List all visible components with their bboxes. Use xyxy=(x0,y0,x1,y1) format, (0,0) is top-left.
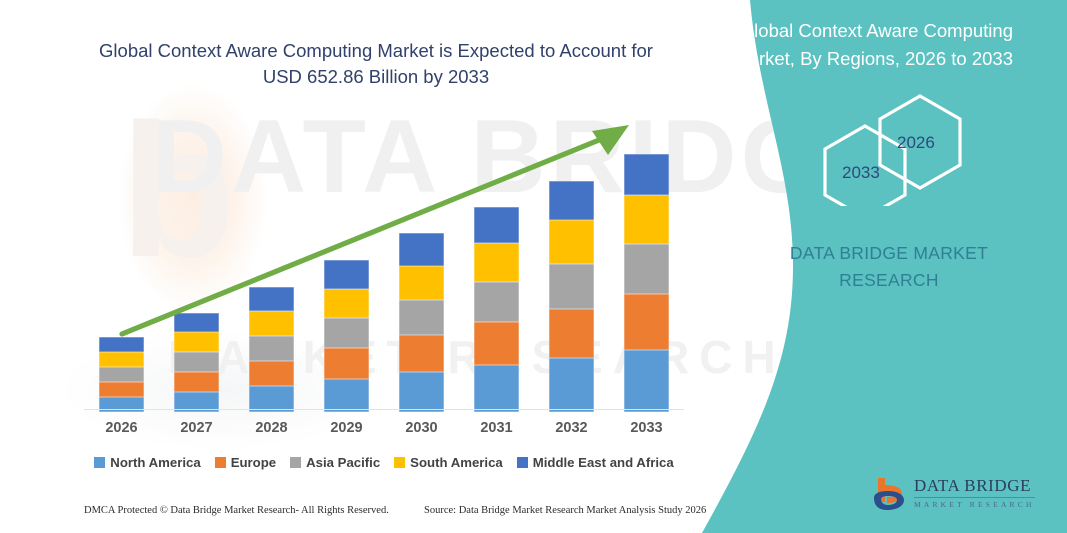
stacked-bar xyxy=(249,287,294,412)
legend-item[interactable]: Middle East and Africa xyxy=(517,455,674,470)
legend-swatch xyxy=(517,457,528,468)
hexagon-group: 2026 2033 xyxy=(689,88,1067,206)
dbmr-logo-main: DATA BRIDGE xyxy=(914,476,1035,496)
bar-segment xyxy=(399,372,444,412)
bar-segment xyxy=(549,358,594,412)
bar-segment xyxy=(624,244,669,294)
bar-segment xyxy=(324,348,369,379)
chart-title: Global Context Aware Computing Market is… xyxy=(84,38,668,91)
bar-segment xyxy=(474,243,519,282)
x-axis-label: 2031 xyxy=(467,420,527,436)
x-axis-label: 2027 xyxy=(167,420,227,436)
bar-segment xyxy=(624,350,669,412)
footer-copyright: DMCA Protected © Data Bridge Market Rese… xyxy=(84,505,389,516)
bar-segment xyxy=(549,181,594,220)
dbmr-logo-text: DATA BRIDGE MARKET RESEARCH xyxy=(914,476,1035,509)
legend-label: South America xyxy=(410,455,503,470)
bar-segment xyxy=(174,313,219,332)
bar-column xyxy=(392,124,452,412)
bar-segment xyxy=(249,361,294,386)
panel-brand-text: DATA BRIDGE MARKET RESEARCH xyxy=(749,240,1049,294)
chart-legend: North AmericaEuropeAsia PacificSouth Ame… xyxy=(84,455,684,470)
bar-segment xyxy=(399,233,444,266)
dbmr-logo: DATA BRIDGE MARKET RESEARCH xyxy=(868,472,1048,518)
bar-segment xyxy=(324,260,369,289)
hexagon-label-2026: 2026 xyxy=(897,133,935,153)
stacked-bar xyxy=(174,313,219,412)
bar-column xyxy=(167,124,227,412)
x-axis-labels: 20262027202820292030203120322033 xyxy=(84,420,684,436)
stacked-bar xyxy=(324,260,369,412)
bar-segment xyxy=(324,318,369,348)
bar-segment xyxy=(249,287,294,311)
dbmr-logo-mark xyxy=(868,472,912,516)
x-axis-label: 2029 xyxy=(317,420,377,436)
footer: DMCA Protected © Data Bridge Market Rese… xyxy=(0,505,740,527)
bar-segment xyxy=(474,282,519,322)
legend-label: North America xyxy=(110,455,200,470)
x-axis-line xyxy=(84,409,684,410)
hexagon-label-2033: 2033 xyxy=(842,163,880,183)
bar-group xyxy=(84,124,684,412)
panel-brand-line-2: RESEARCH xyxy=(749,267,1029,294)
bar-column xyxy=(617,124,677,412)
bar-segment xyxy=(624,195,669,244)
x-axis-label: 2028 xyxy=(242,420,302,436)
bar-segment xyxy=(474,322,519,365)
bar-segment xyxy=(399,300,444,335)
bar-segment xyxy=(624,154,669,195)
legend-label: Middle East and Africa xyxy=(533,455,674,470)
legend-item[interactable]: Asia Pacific xyxy=(290,455,380,470)
stacked-bar xyxy=(474,207,519,412)
legend-item[interactable]: South America xyxy=(394,455,503,470)
legend-item[interactable]: North America xyxy=(94,455,200,470)
bar-segment xyxy=(324,379,369,412)
bar-segment xyxy=(549,309,594,358)
stacked-bar xyxy=(624,154,669,412)
bar-segment xyxy=(399,335,444,372)
legend-label: Asia Pacific xyxy=(306,455,380,470)
bar-segment xyxy=(399,266,444,300)
stacked-bar xyxy=(99,337,144,412)
x-axis-label: 2032 xyxy=(542,420,602,436)
bar-segment xyxy=(99,337,144,352)
bar-segment xyxy=(99,382,144,397)
bar-segment xyxy=(174,372,219,392)
teal-panel-content: Global Context Aware Computing Market, B… xyxy=(689,0,1067,533)
bar-segment xyxy=(99,367,144,382)
legend-item[interactable]: Europe xyxy=(215,455,276,470)
footer-source: Source: Data Bridge Market Research Mark… xyxy=(424,505,706,516)
bar-segment xyxy=(249,336,294,361)
legend-swatch xyxy=(290,457,301,468)
bar-column xyxy=(92,124,152,412)
bar-segment xyxy=(174,352,219,372)
bar-column xyxy=(467,124,527,412)
x-axis-label: 2026 xyxy=(92,420,152,436)
bar-segment xyxy=(624,294,669,350)
chart-plot-area xyxy=(84,120,684,412)
legend-label: Europe xyxy=(231,455,276,470)
x-axis-label: 2030 xyxy=(392,420,452,436)
infographic-canvas: b DATA BRIDGE MARKET RESEARCH Global Con… xyxy=(0,0,1067,533)
legend-swatch xyxy=(215,457,226,468)
legend-swatch xyxy=(394,457,405,468)
panel-title: Global Context Aware Computing Market, B… xyxy=(719,17,1037,73)
bar-column xyxy=(317,124,377,412)
dbmr-logo-sub: MARKET RESEARCH xyxy=(914,497,1035,509)
stacked-bar xyxy=(399,233,444,412)
panel-brand-line-1: DATA BRIDGE MARKET xyxy=(749,240,1029,267)
bar-segment xyxy=(99,352,144,367)
bar-segment xyxy=(324,289,369,318)
bar-column xyxy=(242,124,302,412)
bar-segment xyxy=(474,365,519,412)
bar-segment xyxy=(249,311,294,336)
bar-segment xyxy=(549,220,594,264)
bar-segment xyxy=(474,207,519,243)
stacked-bar xyxy=(549,181,594,412)
bar-segment xyxy=(549,264,594,309)
bar-column xyxy=(542,124,602,412)
x-axis-label: 2033 xyxy=(617,420,677,436)
bar-segment xyxy=(174,332,219,352)
legend-swatch xyxy=(94,457,105,468)
